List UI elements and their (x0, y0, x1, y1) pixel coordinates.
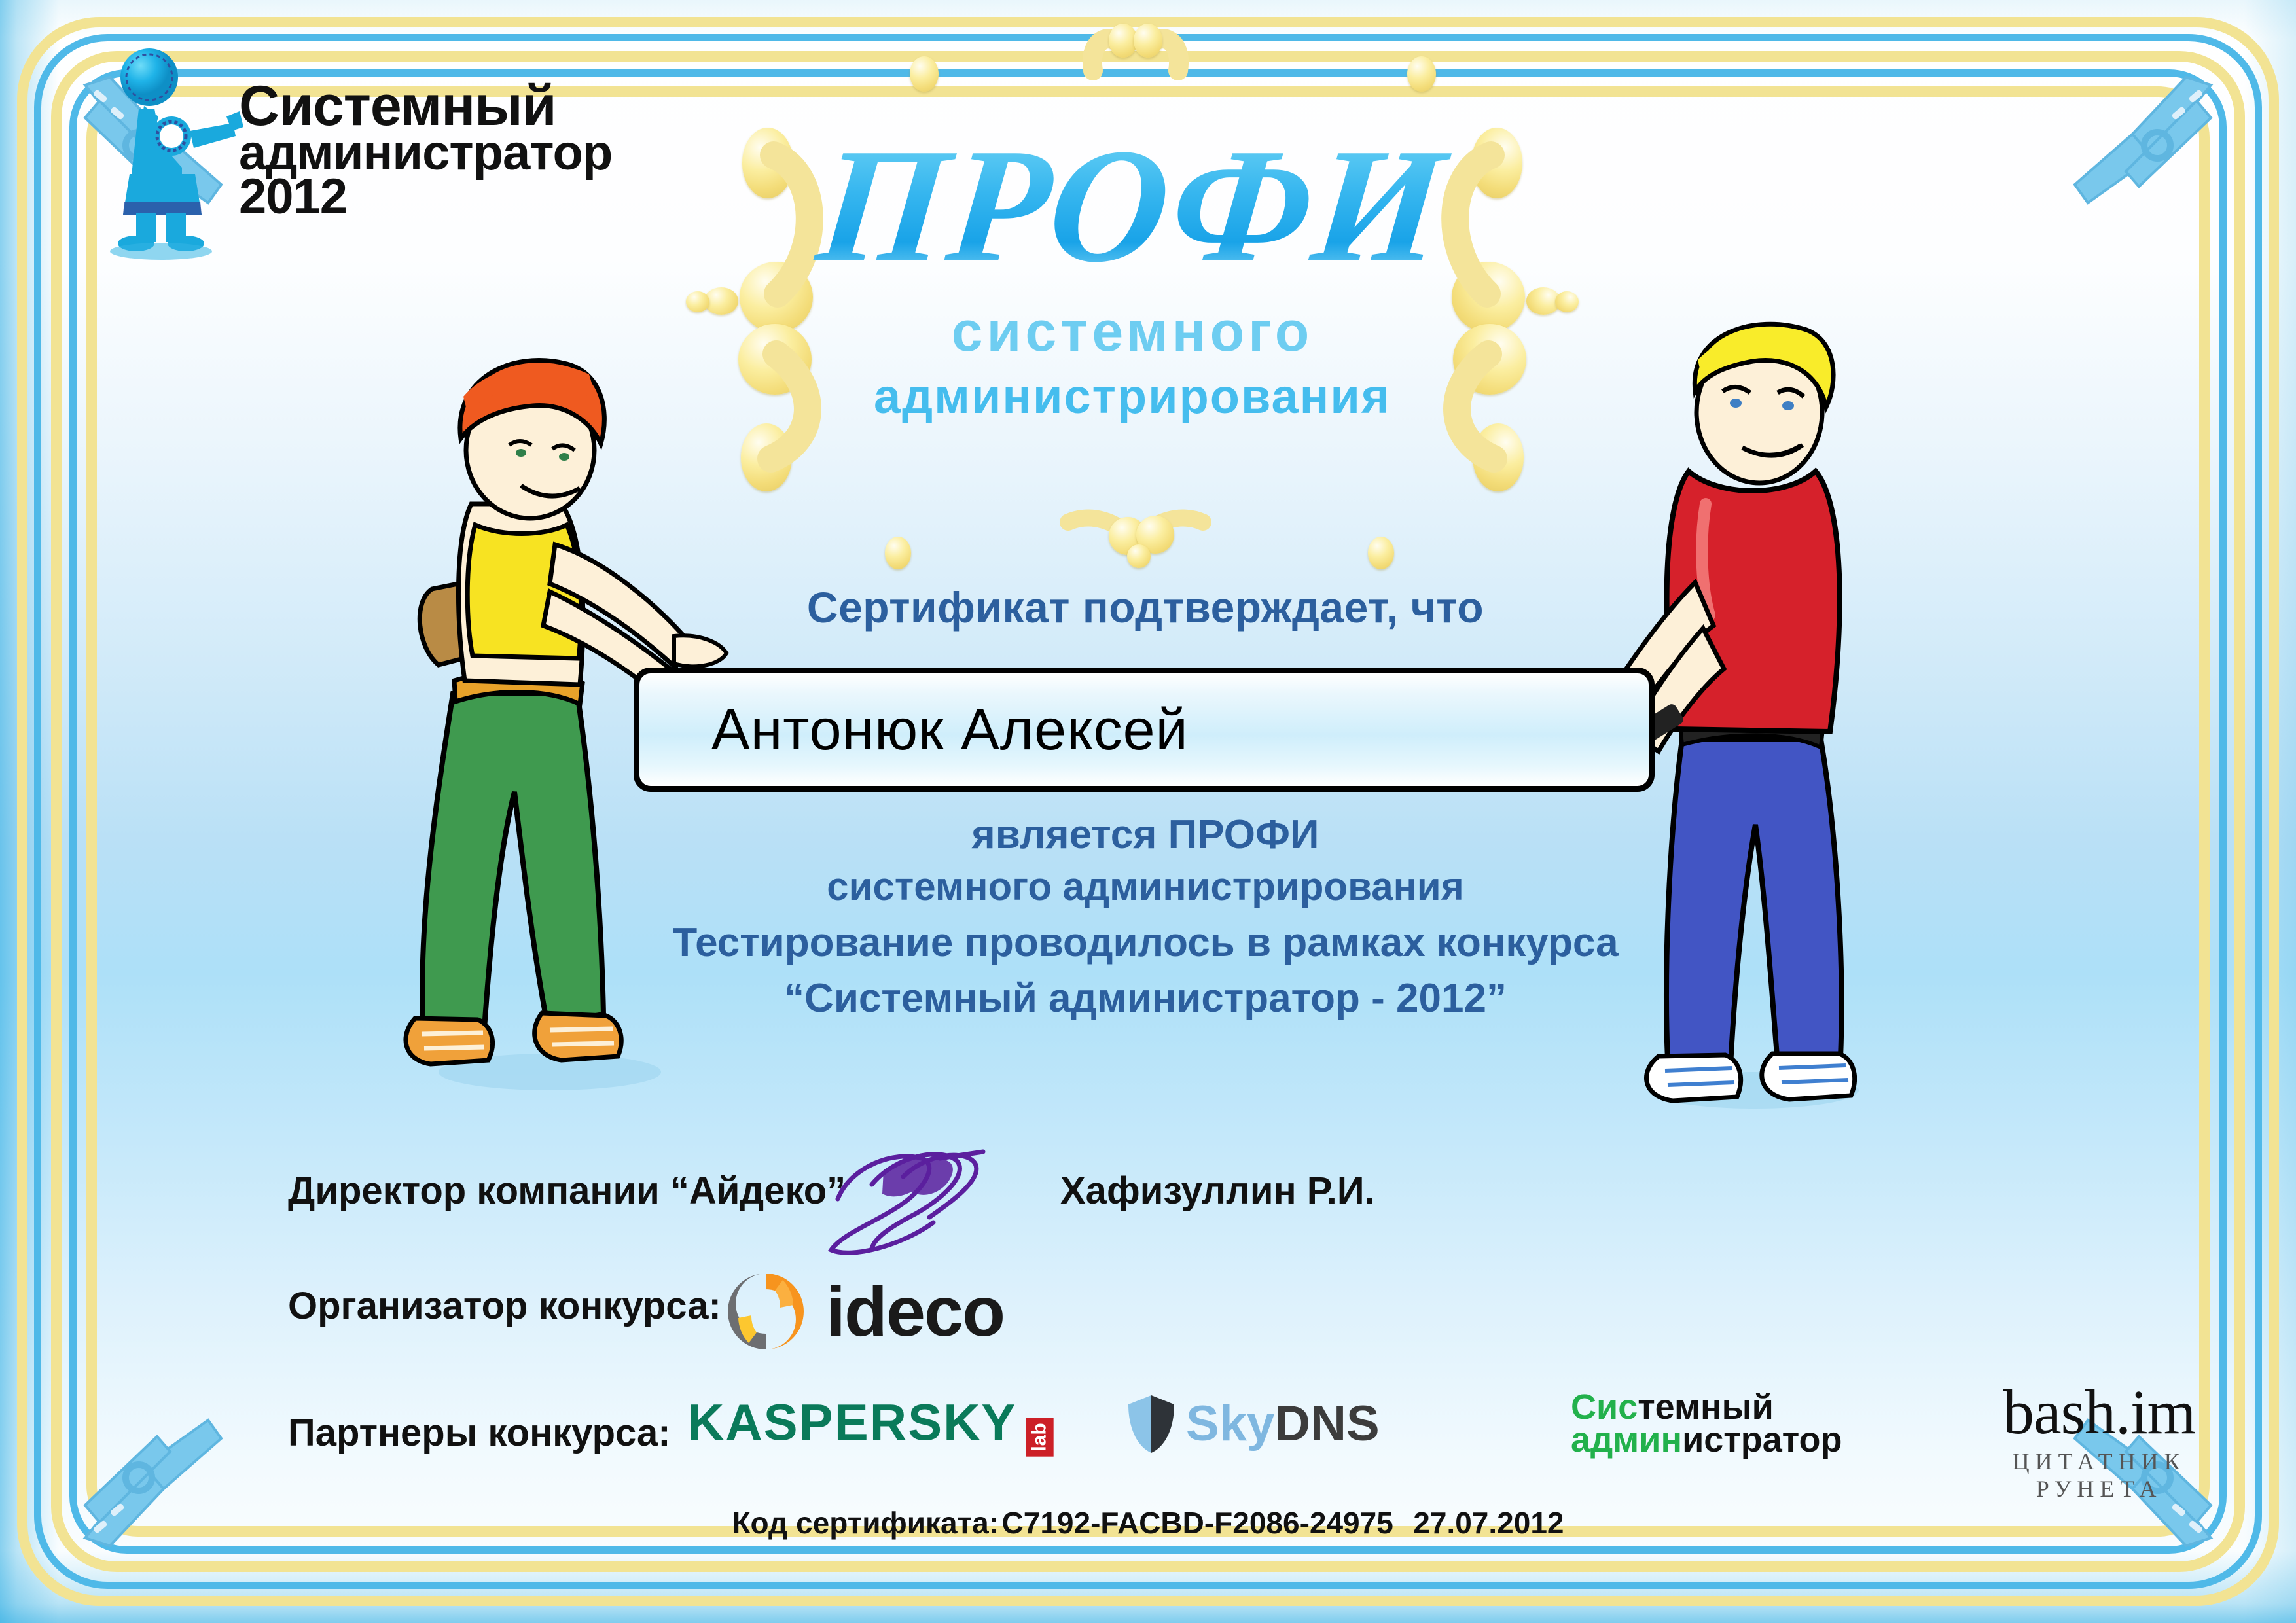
logo-line-3: 2012 (239, 175, 612, 219)
title-block: ПРОФИ системного администрирования (713, 39, 1551, 424)
ideco-ring-icon (720, 1266, 812, 1357)
confirm-text: Сертификат подтверждает, что (589, 582, 1702, 632)
recipient-nameplate: Антонюк Алексей (634, 668, 1655, 792)
kaspersky-logo-text: KASPERSKY (687, 1393, 1016, 1451)
certificate-code-line: Код сертификата: C7192-FACBD-F2086-24975… (0, 1505, 2296, 1541)
flourish-dot-bottom-left (885, 537, 911, 569)
kaspersky-lab-badge: lab (1026, 1418, 1054, 1456)
handwritten-signature-icon (812, 1139, 1001, 1263)
sysadmin-logo-part-2a: админ (1571, 1420, 1682, 1459)
skydns-logo: SkyDNS (1126, 1393, 1380, 1455)
sysadmin-day-logo: Системный администратор 2012 (98, 46, 596, 262)
sysadmin-day-logo-text: Системный администратор 2012 (239, 82, 612, 219)
flourish-bottom-center-icon (1054, 497, 1217, 576)
skydns-logo-text: SkyDNS (1186, 1399, 1380, 1449)
bashim-logo-text: bash.im (2003, 1381, 2195, 1444)
partners-label: Партнеры конкурса: (288, 1411, 671, 1455)
organizer-row: Организатор конкурса: ideco (288, 1270, 1728, 1368)
testing-text: Тестирование проводилось в рамках конкур… (589, 919, 1702, 966)
flourish-dot-left (910, 56, 939, 92)
certificate-page: Системный администратор 2012 (0, 0, 2296, 1623)
signature-person-name: Хафизуллин Р.И. (1060, 1169, 1375, 1213)
bashim-logo: bash.im ЦИТАТНИК РУНЕТА (2003, 1381, 2195, 1503)
sysadmin-magazine-logo: Системный администратор (1571, 1391, 1842, 1456)
skydns-shield-icon (1126, 1393, 1177, 1455)
sysadmin-logo-part-2b: истратор (1682, 1420, 1842, 1459)
issue-date: 27.07.2012 (1413, 1506, 1564, 1540)
organizer-label: Организатор конкурса: (288, 1284, 721, 1328)
ideco-logo-text: ideco (826, 1276, 1004, 1347)
skydns-dns-part: DNS (1274, 1396, 1379, 1452)
logo-line-1: Системный (239, 82, 612, 132)
skydns-sky-part: Sky (1186, 1396, 1274, 1452)
contest-name-text: “Системный администратор - 2012” (589, 975, 1702, 1022)
flourish-top-center-icon (1073, 8, 1198, 80)
plier-icon-top-right (2060, 72, 2231, 223)
code-label: Код сертификата: (732, 1506, 999, 1540)
signature-title: Директор компании “Айдеко” (288, 1169, 846, 1213)
bashim-logo-subtitle: ЦИТАТНИК РУНЕТА (2003, 1448, 2195, 1503)
title-profi: ПРОФИ (705, 124, 1560, 288)
recipient-name: Антонюк Алексей (639, 696, 1189, 763)
ideco-logo: ideco (720, 1266, 1004, 1357)
flourish-dot-right (1407, 56, 1436, 92)
of-sysadmin-text: системного администрирования (589, 864, 1702, 909)
is-profi-text: является ПРОФИ (589, 811, 1702, 858)
eskimo-with-globe-icon (98, 46, 255, 262)
partners-row: Партнеры конкурса: KASPERSKYlab SkyDNS С… (288, 1381, 2121, 1492)
kaspersky-logo: KASPERSKYlab (687, 1397, 1060, 1451)
code-value: C7192-FACBD-F2086-24975 (1002, 1506, 1393, 1540)
flourish-dot-bottom-right (1368, 537, 1394, 569)
sysadmin-logo-line-2: администратор (1571, 1424, 1842, 1457)
sysadmin-logo-line-1: Системный (1571, 1391, 1842, 1424)
signature-row: Директор компании “Айдеко” Хафизуллин Р.… (288, 1158, 1662, 1243)
